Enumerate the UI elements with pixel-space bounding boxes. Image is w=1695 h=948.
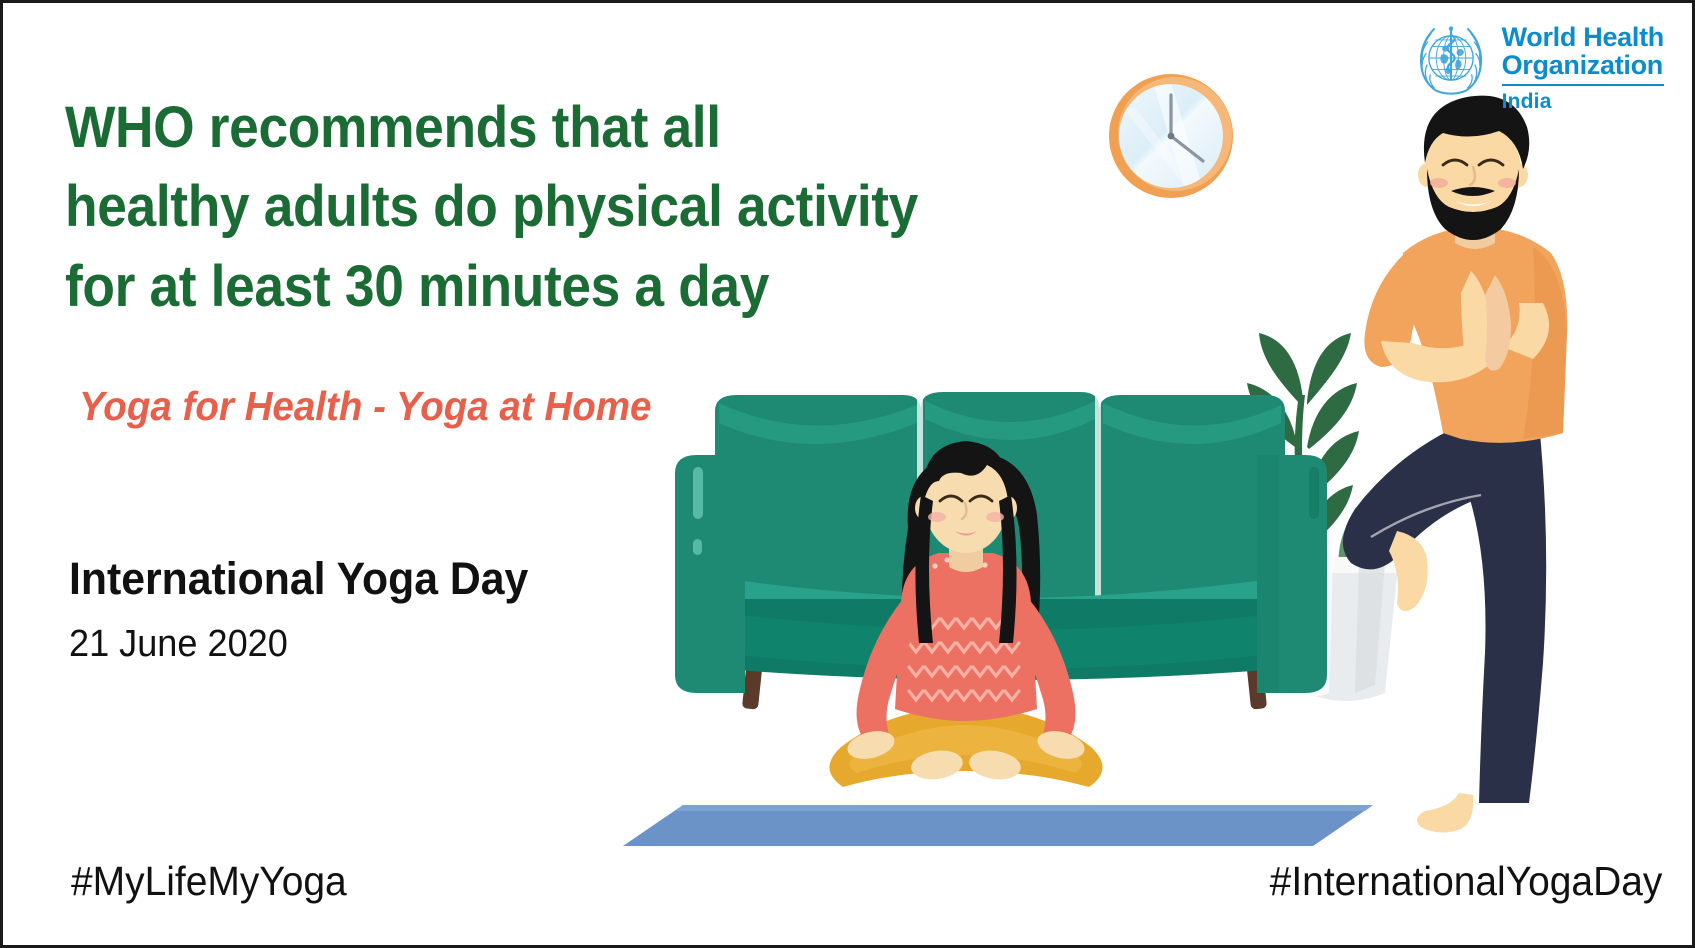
who-logo: World Health Organization India — [1410, 17, 1664, 114]
poster-canvas: World Health Organization India WHO reco… — [0, 0, 1695, 948]
wall-clock-icon — [1109, 74, 1233, 198]
hashtag-internationalyogaday: #InternationalYogaDay — [1269, 858, 1662, 905]
subheadline: Yoga for Health - Yoga at Home — [79, 383, 651, 430]
woman-meditating-lotus-pose-icon — [829, 441, 1102, 787]
headline: WHO recommends that all healthy adults d… — [65, 88, 994, 326]
who-logo-line1: World Health — [1502, 23, 1664, 51]
event-date: 21 June 2020 — [69, 623, 288, 666]
who-logo-country: India — [1502, 90, 1664, 114]
hashtag-mylifemyyoga: #MyLifeMyYoga — [71, 858, 347, 905]
yoga-mat-icon — [623, 805, 1373, 846]
who-logo-line2: Organization — [1502, 51, 1664, 79]
man-tree-pose-namaste-icon — [1343, 96, 1567, 833]
who-un-globe-laurel-asclepius-emblem — [1410, 17, 1492, 99]
potted-plant-icon — [1215, 333, 1399, 701]
event-title: International Yoga Day — [69, 553, 528, 605]
who-logo-divider — [1502, 84, 1664, 86]
green-sofa-icon — [675, 392, 1327, 710]
